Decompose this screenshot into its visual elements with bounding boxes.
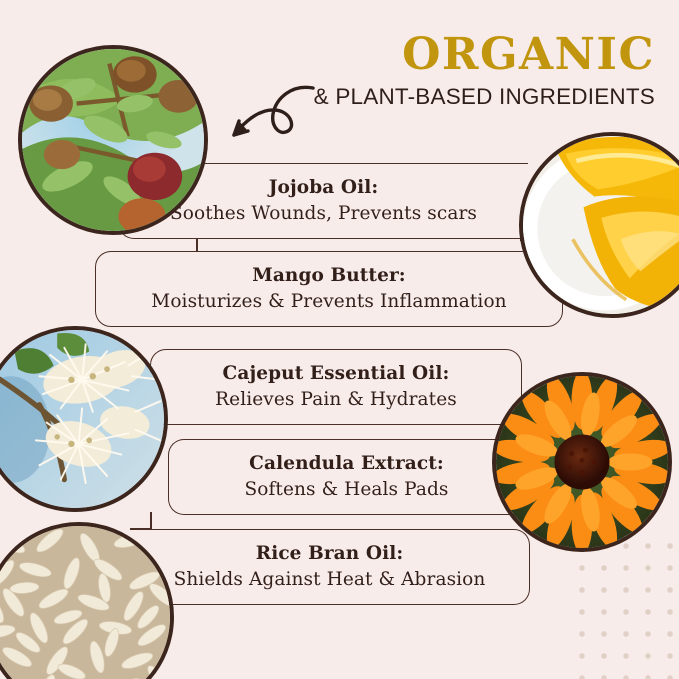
ingredient-benefit: Relieves Pain & Hydrates [215,388,457,411]
ingredient-band-cajeput[interactable]: Cajeput Essential Oil: Relieves Pain & H… [150,349,522,425]
ingredient-name: Calendula Extract: [249,453,444,474]
ingredient-band-calendula[interactable]: Calendula Extract: Softens & Heals Pads [168,439,524,515]
ingredient-benefit: Shields Against Heat & Abrasion [174,568,486,591]
infographic-canvas: ORGANIC & PLANT-BASED INGREDIENTS Jojoba… [0,0,679,679]
ingredient-photo-cajeput [0,326,168,512]
ingredient-name: Rice Bran Oil: [256,543,404,564]
ingredient-name: Mango Butter: [252,265,405,286]
ingredient-name: Cajeput Essential Oil: [223,363,450,384]
ingredient-band-mango[interactable]: Mango Butter: Moisturizes & Prevents Inf… [95,251,563,327]
ingredient-photo-jojoba [18,45,208,235]
ingredient-benefit: Softens & Heals Pads [244,478,448,501]
page-title: ORGANIC [235,32,655,78]
ingredient-band-rice[interactable]: Rice Bran Oil: Shields Against Heat & Ab… [130,529,530,605]
ingredient-benefit: Moisturizes & Prevents Inflammation [151,290,506,313]
ingredient-photo-calendula [492,372,672,552]
connector-cajeput [150,512,152,530]
curly-arrow-icon [218,78,322,162]
ingredient-benefit: Soothes Wounds, Prevents scars [170,202,477,225]
ingredient-name: Jojoba Oil: [269,177,379,198]
